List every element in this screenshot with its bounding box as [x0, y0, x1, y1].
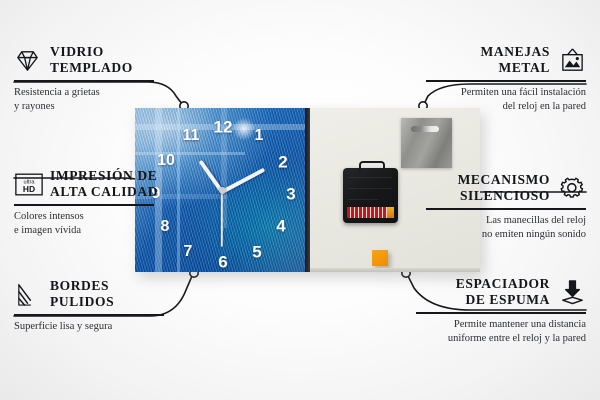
mechanism-groove — [348, 188, 392, 189]
callout-subtitle-line2: uniforme entre el reloj y la pared — [416, 332, 586, 346]
callout-title-line1: MANEJAS — [481, 44, 550, 60]
callout-title-line2: PULIDOS — [50, 294, 114, 310]
callout-manejas-metal: MANEJAS METAL Permiten una fácil instala… — [426, 44, 586, 114]
clock-numeral-2: 2 — [278, 154, 287, 171]
callout-title-line2: SILENCIOSO — [458, 188, 550, 204]
callout-subtitle-line2: no emiten ningún sonido — [426, 228, 586, 242]
metal-hanger-plate — [401, 118, 452, 168]
gear-icon — [559, 175, 586, 202]
clock-numeral-5: 5 — [252, 244, 261, 261]
callout-rule — [416, 312, 586, 314]
foam-spacer-arrow-icon — [559, 279, 586, 306]
callout-rule — [14, 314, 164, 316]
polished-edges-icon — [14, 281, 41, 308]
callout-rule — [14, 80, 154, 82]
back-panel-bottom-edge — [310, 268, 480, 272]
callout-title-line1: IMPRESIÓN DE — [50, 168, 158, 184]
clock-center-pivot — [219, 187, 226, 194]
foam-spacer-square — [372, 250, 388, 266]
picture-hanger-icon — [559, 47, 586, 74]
callout-subtitle-line1: Resistencia a grietas — [14, 86, 174, 100]
callout-rule — [14, 204, 154, 206]
clock-numeral-11: 11 — [183, 128, 200, 144]
clock-second-hand — [221, 191, 223, 247]
callout-subtitle-line1: Permiten una fácil instalación — [426, 86, 586, 100]
callout-title-line1: BORDES — [50, 278, 114, 294]
callout-subtitle-line2: y rayones — [14, 100, 174, 114]
callout-vidrio-templado: VIDRIO TEMPLADO Resistencia a grietas y … — [14, 44, 174, 114]
mechanism-groove — [348, 199, 378, 200]
callout-subtitle-line1: Las manecillas del reloj — [426, 214, 586, 228]
clock-numeral-1: 1 — [255, 128, 264, 144]
callout-subtitle-line2: del reloj en la pared — [426, 100, 586, 114]
callout-subtitle-line2: e imagen vívida — [14, 224, 174, 238]
clock-numeral-10: 10 — [157, 153, 175, 169]
hanger-keyhole-slot — [411, 126, 439, 132]
callout-mecanismo-silencioso: MECANISMO SILENCIOSO Las manecillas del … — [426, 172, 586, 242]
diamond-icon — [14, 47, 41, 74]
clock-numeral-7: 7 — [184, 244, 193, 260]
svg-text:HD: HD — [23, 184, 35, 194]
callout-rule — [426, 208, 586, 210]
ultra-hd-icon: ultra HD — [14, 171, 41, 198]
callout-bordes-pulidos: BORDES PULIDOS Superficie lisa y segura — [14, 278, 174, 334]
clock-numeral-4: 4 — [276, 218, 285, 235]
clock-numeral-3: 3 — [286, 186, 295, 203]
callout-title-line2: DE ESPUMA — [456, 292, 550, 308]
callout-espaciador-espuma: ESPACIADOR DE ESPUMA Permite mantener un… — [416, 276, 586, 346]
callout-title-line2: TEMPLADO — [50, 60, 133, 76]
callout-title-line1: VIDRIO — [50, 44, 133, 60]
callout-rule — [426, 80, 586, 82]
callout-subtitle-line1: Permite mantener una distancia — [416, 318, 586, 332]
callout-subtitle-line1: Colores intensos — [14, 210, 174, 224]
callout-title-line2: METAL — [481, 60, 550, 76]
callout-title-line1: ESPACIADOR — [456, 276, 550, 292]
callout-title-line1: MECANISMO — [458, 172, 550, 188]
callout-subtitle-line1: Superficie lisa y segura — [14, 320, 174, 334]
clock-mechanism-box — [343, 168, 398, 223]
callout-impresion-alta-calidad: ultra HD IMPRESIÓN DE ALTA CALIDAD Color… — [14, 168, 174, 238]
mechanism-hanger-tab — [359, 161, 385, 172]
mechanism-yellow-chip — [387, 207, 394, 218]
clock-numeral-6: 6 — [218, 254, 227, 271]
mechanism-groove — [348, 177, 392, 178]
callout-title-line2: ALTA CALIDAD — [50, 184, 158, 200]
clock-numeral-12: 12 — [214, 119, 233, 136]
infographic-canvas: 12 1 2 3 4 5 6 7 8 9 10 11 — [0, 0, 600, 400]
